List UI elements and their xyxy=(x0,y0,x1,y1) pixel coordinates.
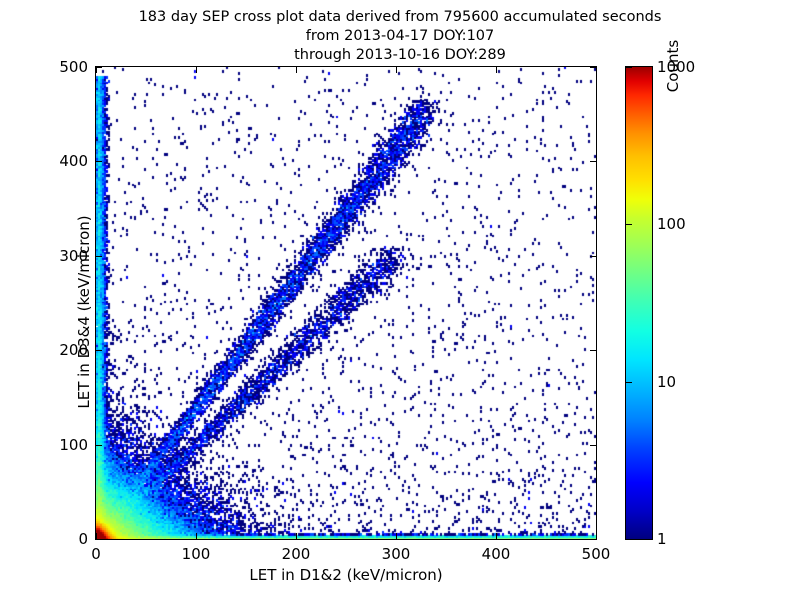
x-tick-label-100: 100 xyxy=(182,545,211,563)
plot-area[interactable] xyxy=(95,66,597,540)
y-tick-100 xyxy=(590,445,596,446)
colorbar-tick-10 xyxy=(625,382,632,383)
x-tick-300 xyxy=(396,67,397,73)
y-axis-label: LET in D3&4 (keV/micron) xyxy=(75,75,93,549)
y-tick-label-500: 500 xyxy=(59,58,88,76)
x-tick-label-300: 300 xyxy=(382,545,411,563)
y-tick-200 xyxy=(590,350,596,351)
x-tick-100 xyxy=(196,67,197,73)
y-tick-0 xyxy=(590,539,596,540)
x-tick-500 xyxy=(596,67,597,73)
y-tick-500 xyxy=(96,67,102,68)
colorbar-tick-label-1: 1 xyxy=(657,530,667,548)
x-tick-500 xyxy=(596,533,597,539)
x-tick-label-200: 200 xyxy=(282,545,311,563)
colorbar-label: Counts xyxy=(664,0,682,303)
y-tick-400 xyxy=(590,161,596,162)
y-tick-100 xyxy=(96,445,102,446)
colorbar-tick-label-10: 10 xyxy=(657,373,676,391)
x-tick-200 xyxy=(296,67,297,73)
x-tick-100 xyxy=(196,533,197,539)
x-tick-400 xyxy=(496,533,497,539)
y-tick-0 xyxy=(96,539,102,540)
colorbar-tick-100 xyxy=(625,224,632,225)
x-axis-label: LET in D1&2 (keV/micron) xyxy=(95,566,597,584)
x-tick-label-500: 500 xyxy=(582,545,611,563)
scatter-canvas xyxy=(96,67,596,539)
colorbar-gradient xyxy=(625,66,653,540)
colorbar-tick-1000 xyxy=(625,67,632,68)
y-tick-300 xyxy=(96,256,102,257)
y-tick-500 xyxy=(590,67,596,68)
x-tick-label-400: 400 xyxy=(482,545,511,563)
y-tick-300 xyxy=(590,256,596,257)
figure: 183 day SEP cross plot data derived from… xyxy=(0,0,800,600)
x-tick-400 xyxy=(496,67,497,73)
y-tick-400 xyxy=(96,161,102,162)
x-tick-200 xyxy=(296,533,297,539)
x-tick-300 xyxy=(396,533,397,539)
y-tick-200 xyxy=(96,350,102,351)
colorbar[interactable] xyxy=(625,66,653,540)
colorbar-tick-1 xyxy=(625,539,632,540)
